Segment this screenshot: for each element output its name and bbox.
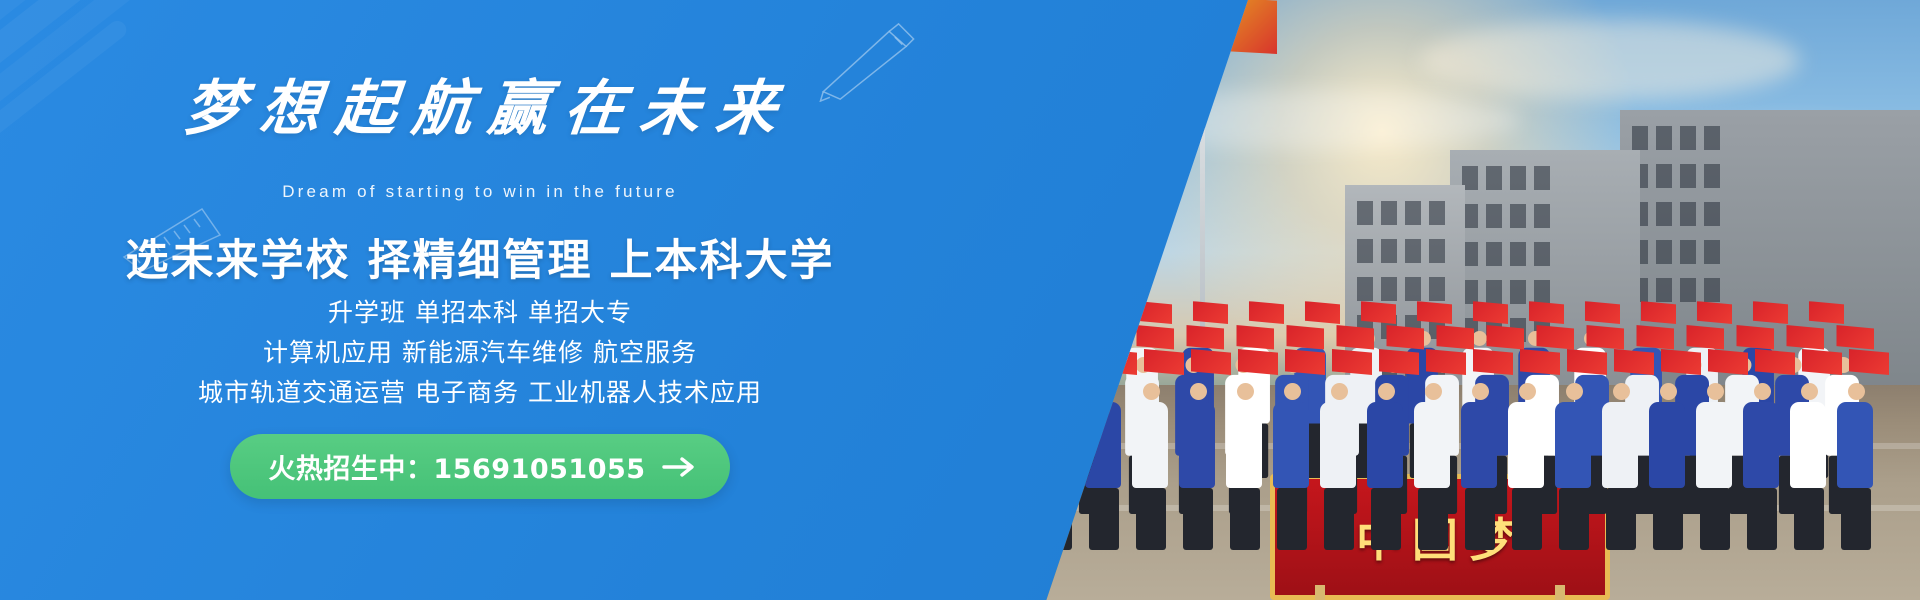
cta-container: 火热招生中：15691051055 xyxy=(0,434,960,499)
student xyxy=(1273,383,1311,550)
flagpole xyxy=(1062,0,1067,330)
building-window xyxy=(1357,277,1373,301)
building-window xyxy=(1704,240,1720,264)
building-window xyxy=(1381,277,1397,301)
promo-banner: 中国梦 梦想起航赢在未来 Dream of starting to win in… xyxy=(0,0,1920,600)
student xyxy=(1014,331,1047,478)
enrollment-hotline-button[interactable]: 火热招生中：15691051055 xyxy=(230,434,729,499)
building-window xyxy=(1381,239,1397,263)
english-subtitle: Dream of starting to win in the future xyxy=(0,182,960,202)
building-window xyxy=(1357,239,1373,263)
student xyxy=(1367,383,1405,550)
building-window xyxy=(1486,242,1502,266)
building-window xyxy=(1704,278,1720,302)
building-window xyxy=(1656,164,1672,188)
student xyxy=(991,383,1029,550)
building-window xyxy=(1405,239,1421,263)
tree xyxy=(950,150,1070,400)
student-crowd xyxy=(840,350,1800,560)
building-window xyxy=(1680,126,1696,150)
building-window xyxy=(1381,201,1397,225)
flag xyxy=(1123,0,1203,54)
arrow-right-icon xyxy=(662,454,696,480)
student xyxy=(1461,383,1499,550)
building-window xyxy=(1429,201,1445,225)
building-window xyxy=(1656,202,1672,226)
building-window xyxy=(1510,280,1526,304)
student xyxy=(1320,383,1358,550)
building-window xyxy=(1656,240,1672,264)
enrollment-hotline-label: 火热招生中：15691051055 xyxy=(268,447,645,486)
building-window xyxy=(1357,201,1373,225)
banner-text-column: 梦想起航赢在未来 Dream of starting to win in the… xyxy=(0,0,960,600)
student xyxy=(1602,383,1640,550)
flagpole xyxy=(1130,0,1135,345)
student xyxy=(1085,383,1123,550)
building-window xyxy=(1486,204,1502,228)
flag xyxy=(1055,0,1131,54)
majors-line: 计算机应用 新能源汽车维修 航空服务 xyxy=(0,336,960,369)
building-window xyxy=(1429,239,1445,263)
building-window xyxy=(1510,242,1526,266)
student xyxy=(1696,383,1734,550)
building-window xyxy=(1656,126,1672,150)
building-window xyxy=(1534,204,1550,228)
building-window xyxy=(1680,278,1696,302)
building-window xyxy=(1486,280,1502,304)
building-window xyxy=(1405,277,1421,301)
building-window xyxy=(1680,240,1696,264)
building-window xyxy=(1486,166,1502,190)
student xyxy=(1555,383,1593,550)
building-window xyxy=(1510,166,1526,190)
majors-line: 升学班 单招本科 单招大专 xyxy=(0,296,960,329)
building-window xyxy=(1704,202,1720,226)
building-window xyxy=(1534,242,1550,266)
student xyxy=(958,331,991,478)
student xyxy=(975,357,1011,514)
building-window xyxy=(1632,126,1648,150)
building-window xyxy=(1704,164,1720,188)
student xyxy=(1226,383,1264,550)
student xyxy=(1743,383,1781,550)
student xyxy=(1790,383,1828,550)
student xyxy=(1837,383,1875,550)
flagpole xyxy=(1200,0,1205,335)
majors-line: 城市轨道交通运营 电子商务 工业机器人技术应用 xyxy=(0,376,960,409)
student xyxy=(1649,383,1687,550)
building-window xyxy=(1429,277,1445,301)
calligraphy-title: 梦想起航赢在未来 xyxy=(0,78,963,141)
student xyxy=(1414,383,1452,550)
student xyxy=(1025,357,1061,514)
building-window xyxy=(1534,166,1550,190)
student xyxy=(1038,383,1076,550)
building-window xyxy=(1534,280,1550,304)
building-window xyxy=(1405,201,1421,225)
flag xyxy=(1193,0,1277,54)
building-window xyxy=(1510,204,1526,228)
student xyxy=(1179,383,1217,550)
building-window xyxy=(1680,164,1696,188)
students-waving-flags-photo: 中国梦 xyxy=(800,0,1920,600)
majors-list: 升学班 单招本科 单招大专 计算机应用 新能源汽车维修 航空服务 城市轨道交通运… xyxy=(0,296,960,416)
student xyxy=(1508,383,1546,550)
building-window xyxy=(1656,278,1672,302)
student xyxy=(1132,383,1170,550)
headline: 选未来学校 择精细管理 上本科大学 xyxy=(0,226,960,288)
building-window xyxy=(1704,126,1720,150)
building-window xyxy=(1680,202,1696,226)
